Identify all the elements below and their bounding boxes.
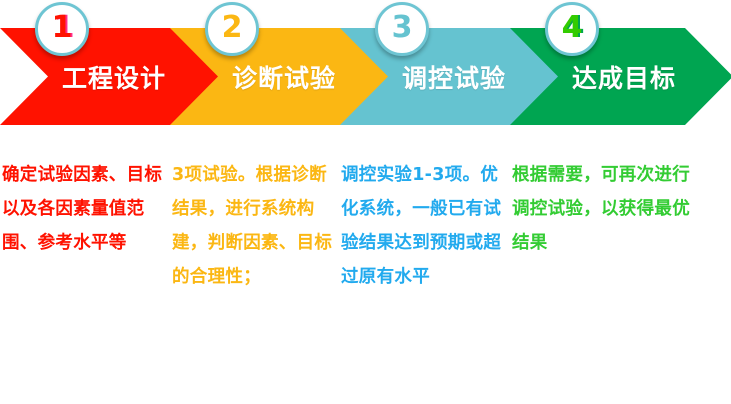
process-step-label-4: 达成目标 [572,59,676,95]
process-step-description-4: 根据需要，可再次进行调控试验，以获得最优结果 [512,158,692,260]
step-number-3: 3 [392,13,413,43]
step-number-4: 4 [562,13,583,43]
process-step-label-3: 调控试验 [402,59,506,95]
step-number-badge-2: 2 [205,2,259,56]
step-number-badge-4: 4 [545,2,599,56]
process-description-row: 确定试验因素、目标以及各因素量值范围、参考水平等 3项试验。根据诊断结果，进行系… [0,158,731,388]
step-number-badge-3: 3 [375,2,429,56]
process-step-description-3: 调控实验1-3项。优化系统，一般已有试验结果达到预期或超过原有水平 [341,158,506,294]
step-number-1: 1 [52,13,73,43]
process-step-label-1: 工程设计 [62,59,166,95]
process-step-description-2: 3项试验。根据诊断结果，进行系统构建，判断因素、目标的合理性； [172,158,340,294]
process-step-label-2: 诊断试验 [232,59,336,95]
process-chevron-band: 工程设计 诊断试验 调控试验 达成目标 [0,28,731,125]
process-step-description-1: 确定试验因素、目标以及各因素量值范围、参考水平等 [2,158,170,260]
step-number-badge-1: 1 [35,2,89,56]
step-number-2: 2 [222,13,243,43]
